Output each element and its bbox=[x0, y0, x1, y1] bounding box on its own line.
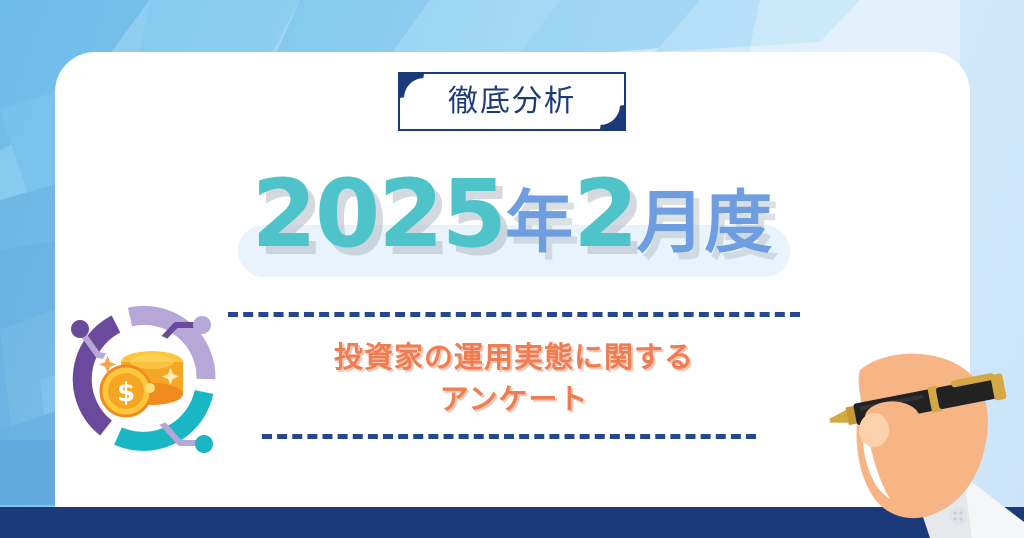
badge-corner-bottom-right bbox=[600, 105, 626, 131]
headline-month-number: 2 bbox=[573, 160, 636, 269]
analysis-badge: 徹底分析 bbox=[398, 72, 626, 131]
subtitle-block: 投資家の運用実態に関する アンケート bbox=[228, 336, 800, 421]
headline-year-number: 2025 bbox=[251, 160, 505, 269]
badge-label: 徹底分析 bbox=[448, 87, 576, 117]
headline-block: 2025年2月度 bbox=[0, 168, 1024, 276]
badge-corner-top-left bbox=[398, 72, 424, 98]
donut-chart-money-icon: $ bbox=[58, 300, 233, 472]
divider-dashed-bottom bbox=[262, 434, 756, 439]
headline-year-unit: 年 bbox=[505, 184, 573, 263]
hand-with-pen-icon bbox=[826, 352, 1024, 538]
divider-dashed-top bbox=[228, 312, 800, 317]
poster-canvas: 徹底分析 2025年2月度 投資家の運用実態に関する アンケート bbox=[0, 0, 1024, 538]
headline-text: 2025年2月度 bbox=[0, 168, 1024, 262]
headline-month-unit: 月度 bbox=[637, 184, 773, 263]
subtitle-line-1: 投資家の運用実態に関する bbox=[228, 336, 800, 378]
subtitle-line-2: アンケート bbox=[228, 378, 800, 420]
svg-text:$: $ bbox=[117, 378, 135, 408]
